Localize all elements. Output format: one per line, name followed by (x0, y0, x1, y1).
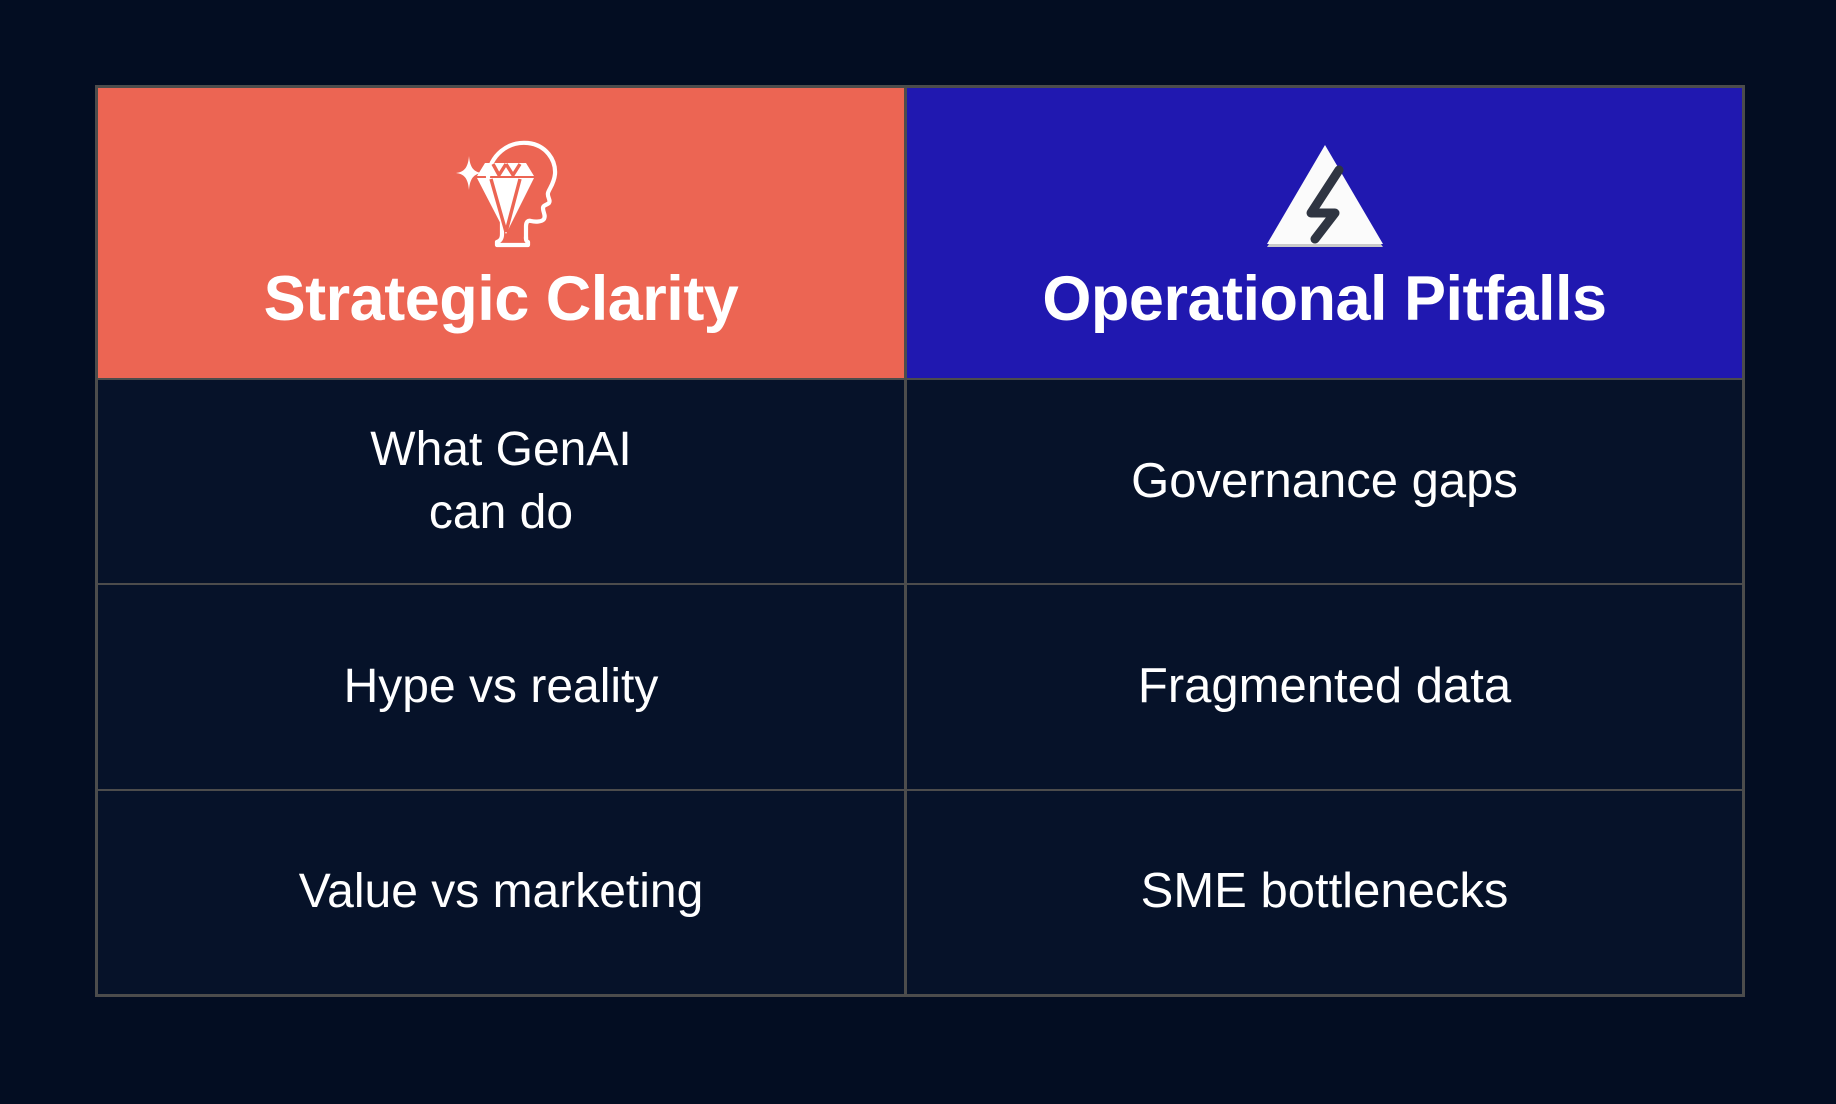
table-cell-pitfalls-2: Fragmented data (904, 585, 1742, 788)
diamond-head-icon (436, 124, 566, 256)
table-cell-pitfalls-3: SME bottlenecks (904, 791, 1742, 994)
table-cell-strategic-1: What GenAI can do (98, 380, 904, 583)
cell-text: Fragmented data (1114, 655, 1535, 719)
table-cell-strategic-2: Hype vs reality (98, 585, 904, 788)
header-title-strategic-clarity: Strategic Clarity (264, 266, 739, 332)
table-row: Value vs marketing SME bottlenecks (98, 789, 1742, 994)
header-title-operational-pitfalls: Operational Pitfalls (1042, 266, 1606, 332)
table-row: Hype vs reality Fragmented data (98, 583, 1742, 788)
table-header-row: Strategic Clarity Operational Pitfalls (98, 88, 1742, 378)
table-row: What GenAI can do Governance gaps (98, 378, 1742, 583)
header-cell-strategic-clarity: Strategic Clarity (98, 88, 904, 378)
cell-text: What GenAI can do (346, 419, 655, 544)
cell-text: SME bottlenecks (1117, 860, 1533, 924)
cell-text: Governance gaps (1107, 450, 1542, 514)
header-cell-operational-pitfalls: Operational Pitfalls (904, 88, 1742, 378)
table-cell-strategic-3: Value vs marketing (98, 791, 904, 994)
cell-text: Value vs marketing (275, 861, 728, 923)
comparison-table: Strategic Clarity Operational Pitfalls W… (95, 85, 1745, 997)
cell-text: Hype vs reality (320, 656, 683, 718)
table-cell-pitfalls-1: Governance gaps (904, 380, 1742, 583)
warning-triangle-icon (1261, 124, 1389, 256)
